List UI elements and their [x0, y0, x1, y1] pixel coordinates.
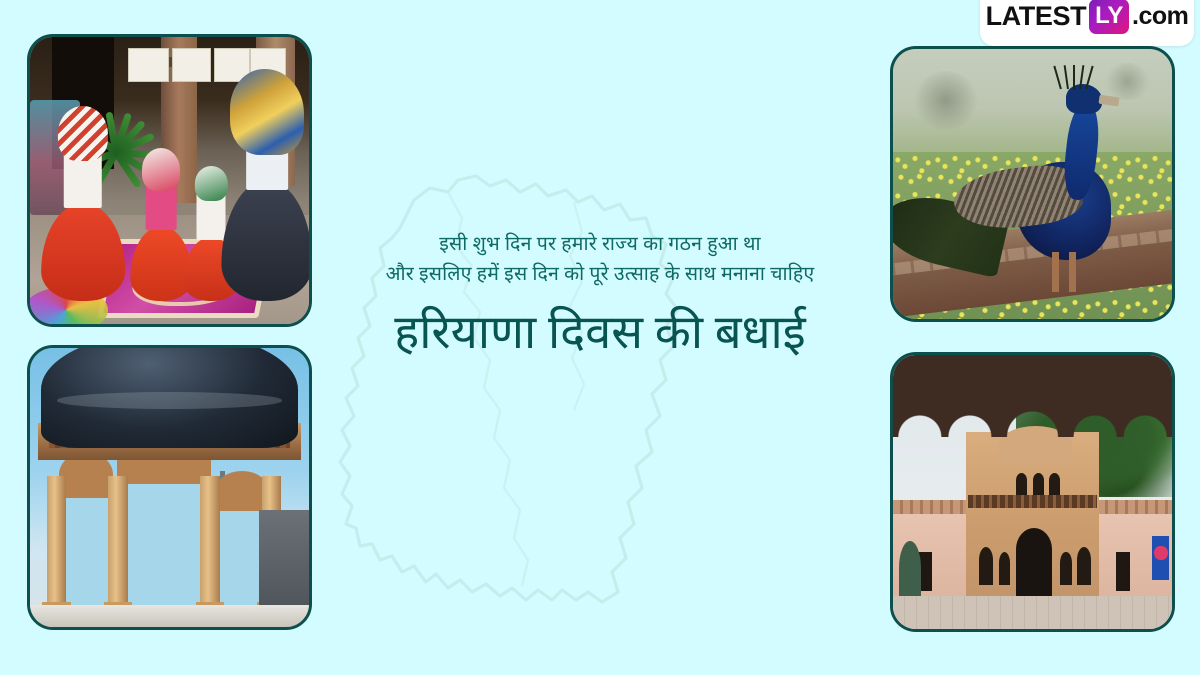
photo-chhatri-pavilion: [27, 345, 312, 630]
greeting-line-1: इसी शुभ दिन पर हमारे राज्य का गठन हुआ था: [312, 230, 888, 260]
photo-sandstone-gateway: [890, 352, 1175, 632]
poster-canvas: इसी शुभ दिन पर हमारे राज्य का गठन हुआ था…: [0, 0, 1200, 675]
logo-text-dotcom: .com: [1132, 2, 1188, 31]
photo-folk-dancers: [27, 34, 312, 327]
greeting-headline: हरियाणा दिवस की बधाई: [312, 302, 888, 364]
haryana-state-map-outline: [330, 140, 720, 650]
greeting-text-block: इसी शुभ दिन पर हमारे राज्य का गठन हुआ था…: [312, 230, 888, 364]
logo-badge-ly: LY: [1089, 0, 1129, 34]
latestly-logo[interactable]: LATEST LY .com: [970, 0, 1200, 56]
logo-text-latest: LATEST: [986, 1, 1087, 32]
photo-peacock: [890, 46, 1175, 322]
greeting-line-2: और इसलिए हमें इस दिन को पूरे उत्साह के स…: [312, 260, 888, 290]
